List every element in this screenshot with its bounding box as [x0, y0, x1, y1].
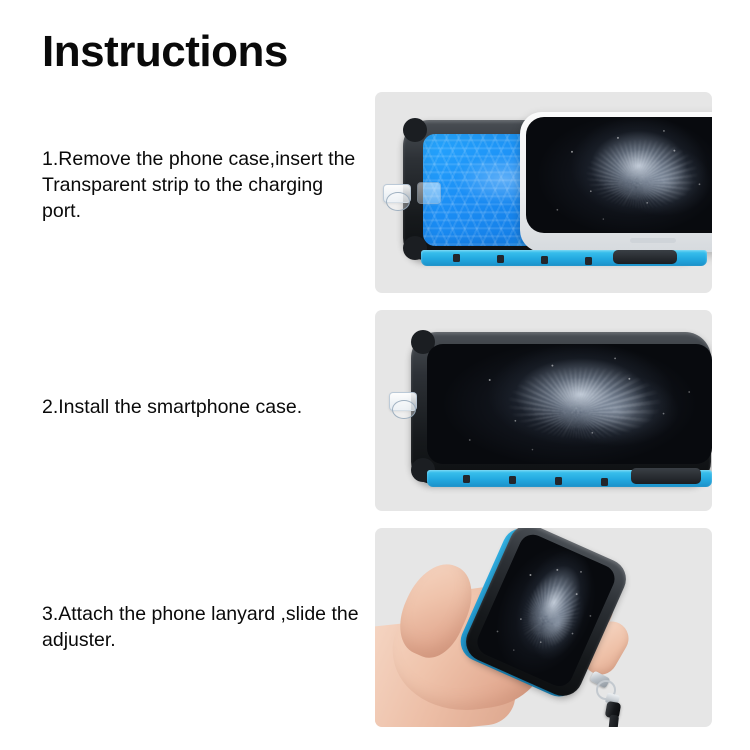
- phone-body: [520, 112, 712, 252]
- case-clip: [585, 257, 592, 265]
- case-clip: [453, 254, 460, 262]
- step-2-image-panel: [375, 310, 712, 511]
- case-clip: [463, 475, 470, 483]
- step-3-image-panel: [375, 528, 712, 727]
- hand-holding-phone-scene: [375, 528, 712, 727]
- step-2-text: 2.Install the smartphone case.: [42, 394, 362, 420]
- case-clip: [497, 255, 504, 263]
- phone-screen: [526, 117, 712, 233]
- case-latch-tab: [613, 250, 677, 264]
- lanyard-cord: [608, 715, 619, 727]
- wallpaper-spray-particles: [526, 117, 712, 233]
- charging-strip-inner-plug: [417, 182, 441, 204]
- step-1-text: 1.Remove the phone case,insert the Trans…: [42, 146, 362, 224]
- case-clip: [555, 477, 562, 485]
- waterproof-case-open-scene: [375, 92, 712, 293]
- transparent-strip-loop: [386, 192, 410, 211]
- case-latch-tab: [631, 468, 701, 484]
- phone-screen: [427, 344, 712, 464]
- step-1-image-panel: [375, 92, 712, 293]
- case-clip: [541, 256, 548, 264]
- phone-installed-scene: [375, 310, 712, 511]
- case-clip: [601, 478, 608, 486]
- transparent-strip-loop: [392, 400, 416, 419]
- phone-speaker-grille: [630, 238, 676, 243]
- instructions-page: Instructions 1.Remove the phone case,ins…: [0, 0, 750, 750]
- page-title: Instructions: [42, 29, 288, 75]
- case-clip: [509, 476, 516, 484]
- wallpaper-spray-particles: [427, 344, 712, 464]
- step-3-text: 3.Attach the phone lanyard ,slide the ad…: [42, 601, 362, 653]
